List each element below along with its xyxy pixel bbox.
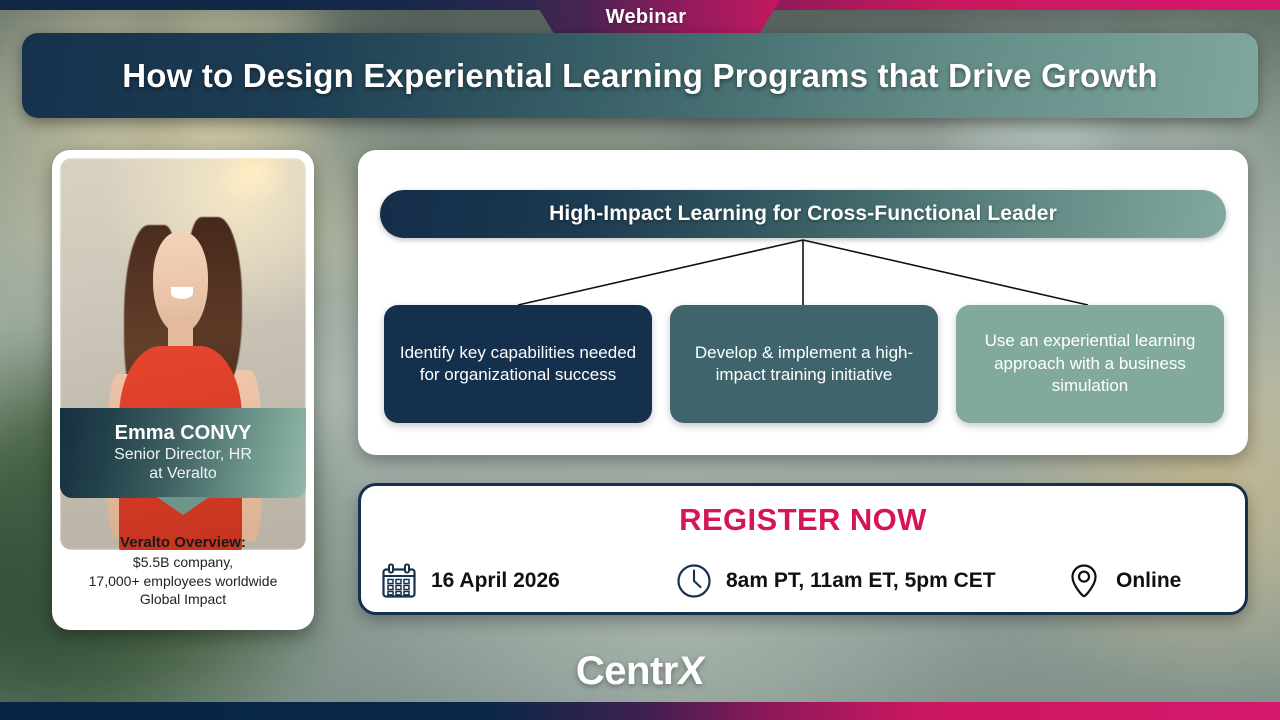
logo-text: Centr — [576, 649, 678, 693]
speaker-name-banner: Emma CONVY Senior Director, HR at Veralt… — [60, 408, 306, 498]
diagram-box-label: Develop & implement a high-impact traini… — [682, 342, 926, 387]
diagram-leaf-boxes: Identify key capabilities needed for org… — [384, 305, 1224, 423]
register-now-heading[interactable]: REGISTER NOW — [361, 502, 1245, 538]
event-location-label: Online — [1116, 569, 1181, 593]
brand-logo: CentrX — [0, 649, 1280, 694]
company-overview: Veralto Overview: $5.5B company, 17,000+… — [62, 522, 304, 620]
event-details: 16 April 2026 8am PT, 11am ET, 5pm CET O… — [379, 552, 1229, 610]
diagram-header-label: High-Impact Learning for Cross-Functiona… — [549, 202, 1057, 226]
diagram-box-label: Identify key capabilities needed for org… — [396, 342, 640, 387]
diagram-box: Identify key capabilities needed for org… — [384, 305, 652, 423]
diagram-box-label: Use an experiential learning approach wi… — [968, 330, 1212, 397]
speaker-name: Emma CONVY — [115, 422, 252, 446]
event-date-label: 16 April 2026 — [431, 569, 560, 593]
overview-line: Global Impact — [140, 590, 226, 608]
register-panel[interactable]: REGISTER NOW 16 April 2026 — [358, 483, 1248, 615]
diagram-panel: High-Impact Learning for Cross-Functiona… — [358, 150, 1248, 455]
photo-lamp-highlight — [217, 158, 291, 205]
clock-icon — [674, 561, 714, 601]
photo-smile — [171, 287, 193, 299]
speaker-organization: at Veralto — [149, 464, 217, 484]
title-bar: How to Design Experiential Learning Prog… — [22, 33, 1258, 118]
webinar-badge-label: Webinar — [606, 6, 687, 29]
logo-accent-x: X — [675, 649, 708, 694]
event-date: 16 April 2026 — [379, 561, 674, 601]
speaker-card: Emma CONVY Senior Director, HR at Veralt… — [52, 150, 314, 630]
overview-title: Veralto Overview: — [120, 533, 246, 553]
webinar-badge: Webinar — [512, 0, 780, 35]
event-time-label: 8am PT, 11am ET, 5pm CET — [726, 569, 996, 593]
location-pin-icon — [1064, 561, 1104, 601]
diagram-header-node: High-Impact Learning for Cross-Functiona… — [380, 190, 1226, 238]
photo-face — [153, 232, 207, 334]
page-title: How to Design Experiential Learning Prog… — [122, 57, 1158, 95]
bottom-accent-bar — [0, 702, 1280, 720]
overview-line: $5.5B company, — [133, 553, 233, 571]
diagram-box: Develop & implement a high-impact traini… — [670, 305, 938, 423]
overview-line: 17,000+ employees worldwide — [89, 572, 278, 590]
event-location: Online — [1064, 561, 1229, 601]
diagram-box: Use an experiential learning approach wi… — [956, 305, 1224, 423]
event-time: 8am PT, 11am ET, 5pm CET — [674, 561, 1064, 601]
speaker-role: Senior Director, HR — [114, 445, 252, 464]
calendar-icon — [379, 561, 419, 601]
